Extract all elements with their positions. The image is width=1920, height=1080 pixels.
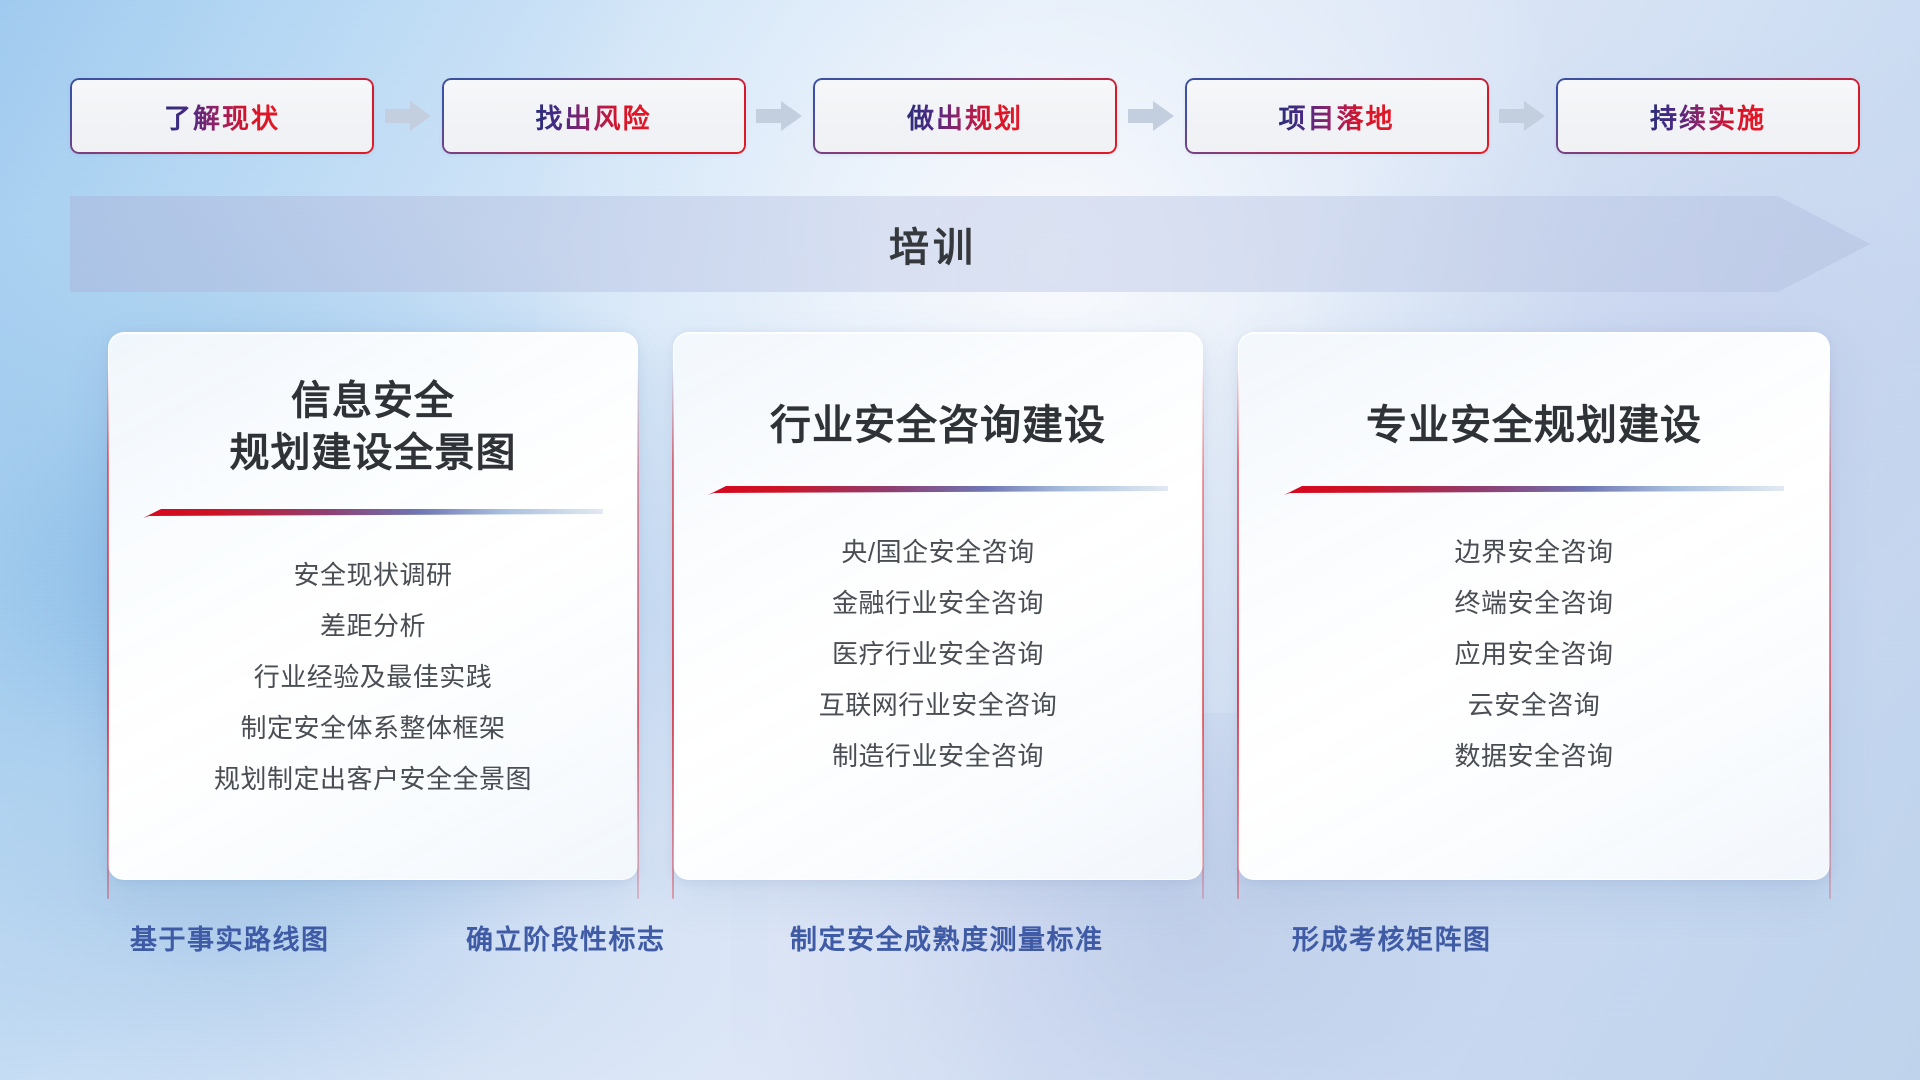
banner-title: 培训 (70, 196, 1870, 292)
list-item: 云安全咨询 (1468, 680, 1601, 731)
footer-caption-row: 基于事实路线图 确立阶段性标志 制定安全成熟度测量标准 形成考核矩阵图 (0, 918, 1920, 962)
list-item: 互联网行业安全咨询 (819, 680, 1058, 731)
card-item-list: 边界安全咨询 终端安全咨询 应用安全咨询 云安全咨询 数据安全咨询 (1273, 527, 1795, 782)
footer-caption-3: 制定安全成熟度测量标准 (790, 918, 1104, 957)
step-box-3[interactable]: 做出规划 (813, 78, 1117, 154)
list-item: 医疗行业安全咨询 (832, 629, 1044, 680)
slide-content: 了解现状 找出风险 做出规划 项目落地 (0, 0, 1920, 1080)
footer-caption-2: 确立阶段性标志 (466, 918, 666, 957)
list-item: 行业经验及最佳实践 (254, 652, 493, 703)
list-item: 终端安全咨询 (1454, 578, 1613, 629)
arrow-right-icon (756, 99, 802, 133)
list-item: 差距分析 (320, 601, 426, 652)
card-industry-security-consulting[interactable]: 行业安全咨询建设 (673, 332, 1203, 880)
step-box-1[interactable]: 了解现状 (70, 78, 374, 154)
gradient-divider-icon (708, 484, 1168, 497)
card-title: 行业安全咨询建设 (770, 399, 1106, 452)
card-title: 信息安全 规划建设全景图 (230, 375, 517, 479)
card-professional-security-planning[interactable]: 专业安全规划建设 (1238, 332, 1830, 880)
card-item-list: 安全现状调研 差距分析 行业经验及最佳实践 制定安全体系整体框架 规划制定出客户… (143, 550, 603, 805)
step-label-1: 了解现状 (164, 97, 280, 136)
arrow-right-icon (385, 99, 431, 133)
list-item: 边界安全咨询 (1454, 527, 1613, 578)
footer-caption-1: 基于事实路线图 (130, 918, 330, 957)
list-item: 应用安全咨询 (1454, 629, 1613, 680)
list-item: 央/国企安全咨询 (841, 527, 1034, 578)
step-box-4[interactable]: 项目落地 (1185, 78, 1489, 154)
step-label-3: 做出规划 (907, 97, 1023, 136)
step-label-2: 找出风险 (536, 97, 652, 136)
card-title: 专业安全规划建设 (1366, 399, 1702, 452)
list-item: 金融行业安全咨询 (832, 578, 1044, 629)
card-item-list: 央/国企安全咨询 金融行业安全咨询 医疗行业安全咨询 互联网行业安全咨询 制造行… (708, 527, 1168, 782)
card-row: 信息安全 规划建设全景图 (108, 332, 1830, 892)
list-item: 制造行业安全咨询 (832, 731, 1044, 782)
gradient-divider-icon (1284, 484, 1784, 497)
card-information-security-panorama[interactable]: 信息安全 规划建设全景图 (108, 332, 638, 880)
training-banner: 培训 (70, 196, 1870, 292)
arrow-right-icon (1128, 99, 1174, 133)
step-label-4: 项目落地 (1279, 97, 1395, 136)
list-item: 安全现状调研 (293, 550, 452, 601)
footer-caption-4: 形成考核矩阵图 (1292, 918, 1492, 957)
step-box-5[interactable]: 持续实施 (1556, 78, 1860, 154)
gradient-divider-icon (143, 507, 603, 520)
list-item: 数据安全咨询 (1454, 731, 1613, 782)
list-item: 规划制定出客户安全全景图 (214, 754, 532, 805)
step-label-5: 持续实施 (1650, 97, 1766, 136)
step-box-2[interactable]: 找出风险 (442, 78, 746, 154)
arrow-right-icon (1499, 99, 1545, 133)
process-step-row: 了解现状 找出风险 做出规划 项目落地 (70, 78, 1860, 154)
list-item: 制定安全体系整体框架 (240, 703, 505, 754)
